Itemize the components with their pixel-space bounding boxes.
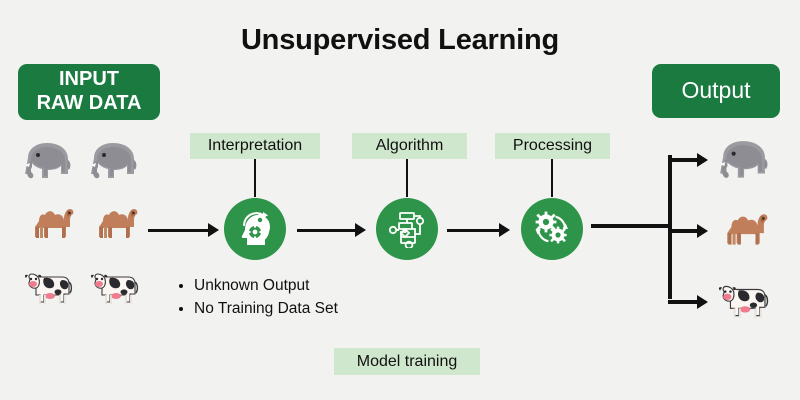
arrow-input-to-interpretation <box>148 223 219 237</box>
elephant-icon <box>86 140 138 186</box>
model-training-label: Model training <box>334 348 480 375</box>
head-gears-icon <box>235 209 275 249</box>
camel-icon <box>90 203 140 247</box>
branch-to-camel <box>668 224 708 238</box>
output-result-cow <box>714 278 772 324</box>
arrow-interpretation-to-algorithm <box>297 223 366 237</box>
page-title: Unsupervised Learning <box>0 24 800 57</box>
cow-icon <box>714 278 772 324</box>
output-result-elephant <box>712 138 772 186</box>
branch-to-elephant <box>668 153 708 167</box>
input-sample-cows <box>22 266 140 310</box>
elephant-icon <box>712 138 772 186</box>
stage-icon-processing[interactable] <box>521 198 583 260</box>
arrow-processing-to-branch <box>591 224 671 228</box>
stage-label-algorithm[interactable]: Algorithm <box>352 133 467 159</box>
arrow-algorithm-to-processing <box>447 223 510 237</box>
input-box-line1: INPUT <box>37 68 142 92</box>
stage-icon-algorithm[interactable] <box>376 198 438 260</box>
stage-label-processing[interactable]: Processing <box>495 133 610 159</box>
connector-stem-interpretation <box>254 159 256 197</box>
elephant-icon <box>20 140 72 186</box>
gears-cycle-icon <box>532 209 572 249</box>
branch-to-cow <box>668 295 708 309</box>
camel-icon <box>716 208 772 254</box>
notes-list: Unknown Output No Training Data Set <box>176 276 338 323</box>
flowchart-icon <box>388 210 426 248</box>
output-box[interactable]: Output <box>652 64 780 118</box>
list-item: No Training Data Set <box>194 299 338 319</box>
cow-icon <box>22 266 74 310</box>
input-sample-camels <box>26 203 140 247</box>
input-box-line2: RAW DATA <box>37 92 142 116</box>
output-result-camel <box>716 208 772 254</box>
stage-icon-interpretation[interactable] <box>224 198 286 260</box>
input-raw-data-box[interactable]: INPUT RAW DATA <box>18 64 160 120</box>
camel-icon <box>26 203 76 247</box>
cow-icon <box>88 266 140 310</box>
connector-stem-algorithm <box>406 159 408 197</box>
stage-label-interpretation[interactable]: Interpretation <box>190 133 320 159</box>
diagram-canvas: Unsupervised Learning INPUT RAW DATA <box>0 0 800 400</box>
list-item: Unknown Output <box>194 276 338 296</box>
input-sample-elephants <box>20 140 138 186</box>
connector-stem-processing <box>551 159 553 197</box>
